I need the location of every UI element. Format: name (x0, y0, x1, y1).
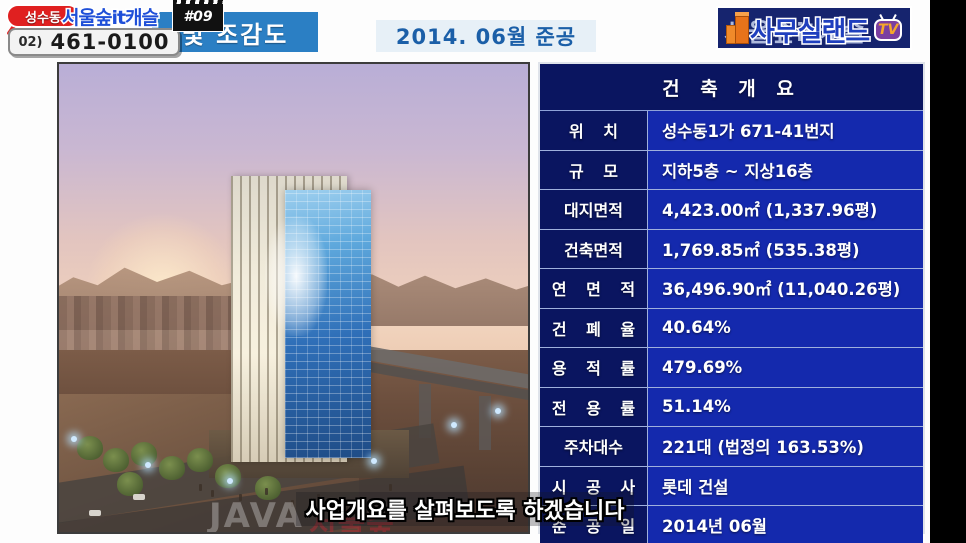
architectural-rendering: JAVA 서울숲 (57, 62, 530, 534)
table-row-label: 대지면적 (564, 197, 623, 221)
table-row: 건 폐 율40.64% (540, 309, 923, 349)
phone-number: 461-0100 (51, 30, 170, 54)
table-row-value: 40.64% (662, 318, 731, 337)
tree (131, 442, 157, 466)
phone-prefix: 02) (18, 35, 42, 50)
table-row-value-cell: 36,496.90㎡ (11,040.26평) (648, 269, 923, 308)
tree (215, 464, 241, 488)
table-row-label: 건축면적 (564, 237, 623, 261)
table-row-label-cell: 전 용 률 (540, 388, 648, 427)
table-row-value-cell: 성수동1가 671-41번지 (648, 111, 923, 150)
table-row-label-cell: 건축면적 (540, 230, 648, 269)
table-row-label: 전 용 률 (545, 395, 642, 419)
table-row-value: 479.69% (662, 358, 742, 377)
table-row-label-cell: 대지면적 (540, 190, 648, 229)
building-icon (724, 14, 754, 44)
table-row: 주차대수221대 (법정의 163.53%) (540, 427, 923, 467)
tree (187, 448, 213, 472)
table-row: 전 용 률51.14% (540, 388, 923, 428)
episode-label: #09 (183, 9, 212, 25)
table-row-label-cell: 연 면 적 (540, 269, 648, 308)
table-row-value: 221대 (법정의 163.53%) (662, 434, 864, 458)
table-row-label-cell: 주차대수 (540, 427, 648, 466)
table-row: 용 적 률479.69% (540, 348, 923, 388)
table-row-value-cell: 221대 (법정의 163.53%) (648, 427, 923, 466)
rail-pier (479, 396, 491, 450)
table-row: 규 모지하5층 ~ 지상16층 (540, 151, 923, 191)
table-row-label-cell: 용 적 률 (540, 348, 648, 387)
subtitle-caption: 사업개요를 살펴보도록 하겠습니다 (0, 492, 930, 526)
tree (77, 436, 103, 460)
district-label: 성수동 (25, 7, 61, 26)
street-lamp (451, 422, 457, 428)
completion-badge: 2014. 06월 준공 (376, 20, 596, 52)
table-row-label: 건 폐 율 (545, 316, 642, 340)
table-row-value-cell: 1,769.85㎡ (535.38평) (648, 230, 923, 269)
slide-canvas: 및 조감도 2014. 06월 준공 서울숲it캐슬 사무실랜드 TV (0, 0, 930, 543)
building-spec-table: 건 축 개 요 위 치성수동1가 671-41번지규 모지하5층 ~ 지상16층… (538, 62, 925, 534)
table-row-label: 연 면 적 (545, 276, 642, 300)
tree (159, 456, 185, 480)
table-row: 대지면적4,423.00㎡ (1,337.96평) (540, 190, 923, 230)
table-row-label-cell: 위 치 (540, 111, 648, 150)
street-lamp (495, 408, 501, 414)
table-row-value-cell: 지하5층 ~ 지상16층 (648, 151, 923, 190)
table-row-label: 용 적 률 (545, 355, 642, 379)
table-row: 건축면적1,769.85㎡ (535.38평) (540, 230, 923, 270)
brand-sticker-label: 서울숲it캐슬 (62, 3, 158, 30)
pedestrian (389, 484, 392, 491)
table-row-label-cell: 규 모 (540, 151, 648, 190)
table-row-value: 4,423.00㎡ (1,337.96평) (662, 197, 877, 221)
clapperboard-icon: #09 (172, 2, 224, 32)
pedestrian (199, 484, 202, 491)
table-row-value-cell: 51.14% (648, 388, 923, 427)
table-row: 위 치성수동1가 671-41번지 (540, 111, 923, 151)
table-row-value: 지하5층 ~ 지상16층 (662, 158, 813, 182)
channel-logo-label: 사무실랜드 (750, 10, 869, 49)
table-title: 건 축 개 요 (662, 74, 801, 101)
table-row: 연 면 적36,496.90㎡ (11,040.26평) (540, 269, 923, 309)
table-row-label: 규 모 (562, 158, 625, 182)
table-row-label: 주차대수 (564, 434, 623, 458)
phone-sticker[interactable]: 02) 461-0100 (8, 28, 180, 56)
street-lamp (71, 436, 77, 442)
tv-badge-label: TV (878, 23, 898, 37)
street-lamp (145, 462, 151, 468)
completion-badge-label: 2014. 06월 준공 (396, 21, 576, 51)
table-row-value: 51.14% (662, 397, 731, 416)
table-header: 건 축 개 요 (540, 64, 923, 111)
table-row-label: 위 치 (562, 118, 625, 142)
right-letterbox-bar (930, 0, 966, 543)
tree (103, 448, 129, 472)
tv-badge-icon: TV (872, 14, 904, 44)
tower-highlight (265, 216, 327, 336)
table-row-value-cell: 4,423.00㎡ (1,337.96평) (648, 190, 923, 229)
street-lamp (371, 458, 377, 464)
hills-right (349, 256, 530, 326)
video-frame: 및 조감도 2014. 06월 준공 서울숲it캐슬 사무실랜드 TV (0, 0, 966, 543)
clapperboard-stripes (173, 0, 225, 4)
table-row-label-cell: 건 폐 율 (540, 309, 648, 348)
table-row-value: 성수동1가 671-41번지 (662, 118, 835, 142)
table-row-value-cell: 40.64% (648, 309, 923, 348)
table-body: 위 치성수동1가 671-41번지규 모지하5층 ~ 지상16층대지면적4,42… (540, 111, 923, 543)
table-row-value-cell: 479.69% (648, 348, 923, 387)
table-row-value: 1,769.85㎡ (535.38평) (662, 237, 860, 261)
street-lamp (227, 478, 233, 484)
subtitle-text: 사업개요를 살펴보도록 하겠습니다 (296, 492, 635, 526)
table-row-value: 36,496.90㎡ (11,040.26평) (662, 276, 900, 300)
channel-logo: 사무실랜드 TV (724, 8, 956, 50)
